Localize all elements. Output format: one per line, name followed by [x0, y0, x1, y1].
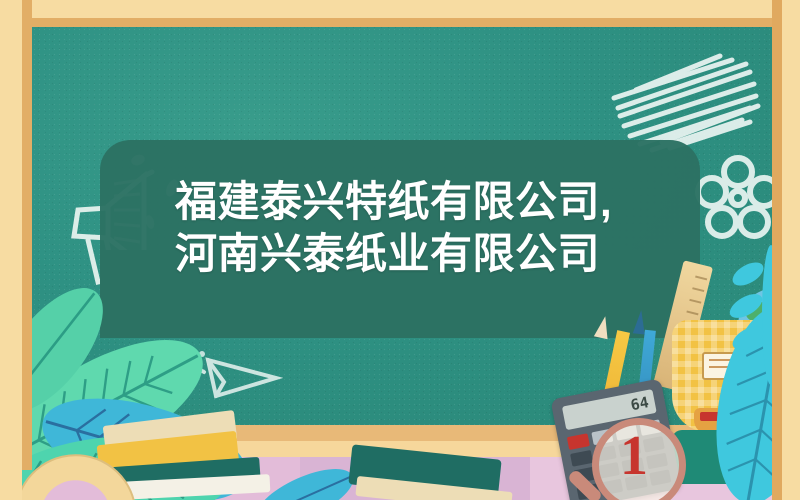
board-frame-right-edge	[772, 0, 782, 500]
paintbrush-tip-icon	[633, 309, 647, 334]
board-frame-left	[0, 0, 22, 500]
protractor-inner	[34, 473, 110, 500]
banner-stage: 福建泰兴特纸有限公司,河南兴泰纸业有限公司	[0, 0, 800, 500]
board-frame-top	[0, 0, 800, 18]
board-frame-right	[782, 0, 800, 500]
board-frame-left-edge	[22, 0, 32, 470]
page-title: 福建泰兴特纸有限公司,河南兴泰纸业有限公司	[175, 176, 645, 280]
magnifier-number: 1	[620, 424, 648, 488]
board-frame-top-edge	[0, 18, 800, 27]
